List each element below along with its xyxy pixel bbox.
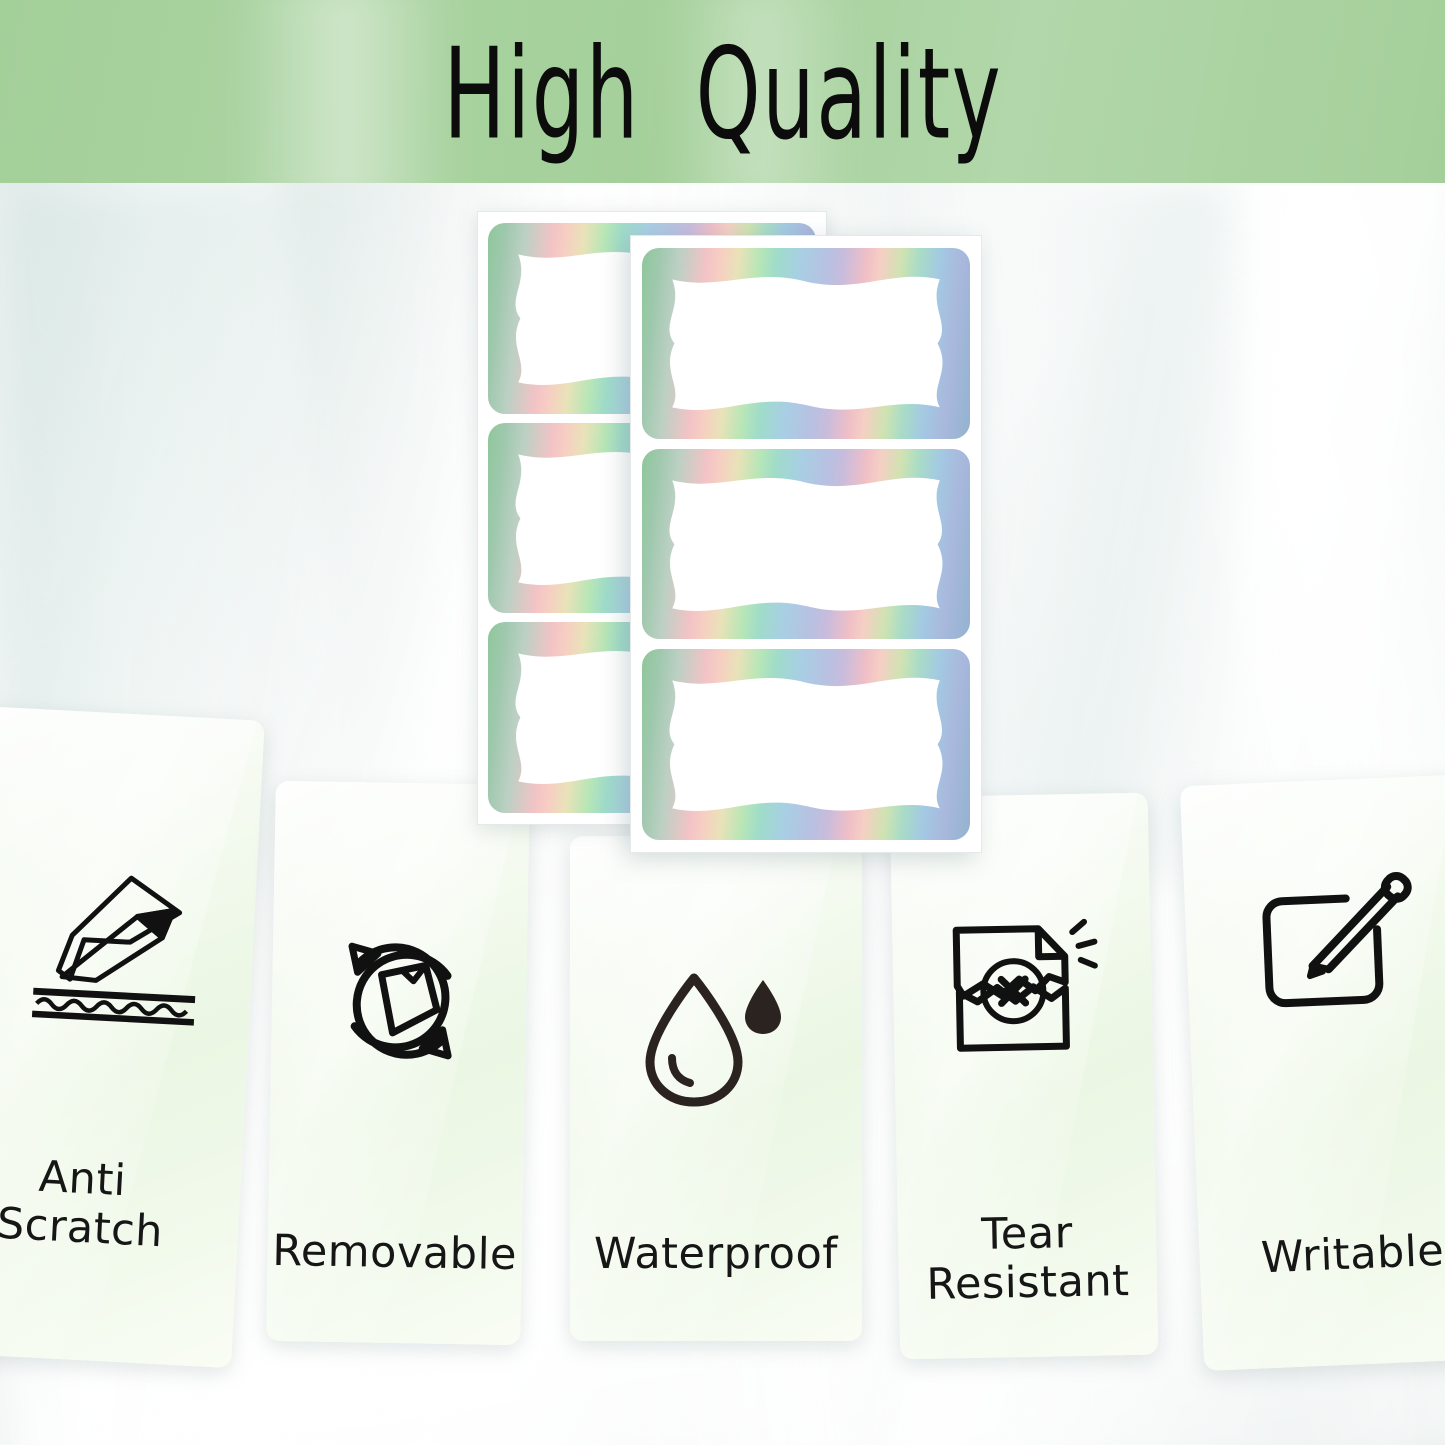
feature-card-label: Tear Resistant	[898, 1207, 1158, 1309]
label-face	[642, 449, 970, 640]
feature-card-writable: Writable	[1180, 774, 1445, 1371]
label-sticker	[642, 649, 970, 840]
feature-card-label: Anti Scratch	[0, 1148, 257, 1262]
label-face	[642, 649, 970, 840]
header-sheen	[230, 0, 460, 183]
feature-card-anti-scratch: Anti Scratch	[0, 706, 265, 1368]
feature-card-waterproof: Waterproof	[570, 836, 862, 1341]
torn-paper-x-icon	[892, 913, 1153, 1068]
page-title: High Quality	[443, 32, 1002, 157]
feature-card-tear-resistant: Tear Resistant	[890, 793, 1159, 1360]
feature-card-removable: Removable	[266, 781, 530, 1345]
feature-card-label: Writable	[1192, 1224, 1445, 1285]
header-banner: High Quality	[0, 0, 1445, 183]
label-sticker	[642, 449, 970, 640]
front-label-sheet	[630, 235, 982, 853]
product-infographic: High Quality	[0, 0, 1445, 1445]
recycle-tag-icon	[271, 921, 528, 1081]
water-droplet-icon	[570, 966, 862, 1110]
card-gloss	[0, 706, 265, 1368]
feature-card-label: Waterproof	[570, 1230, 862, 1279]
label-face	[642, 248, 970, 439]
blade-over-surface-icon	[0, 856, 257, 1029]
pencil-square-icon	[1183, 859, 1445, 1027]
background-shade	[980, 180, 1240, 880]
feature-card-label: Removable	[267, 1227, 522, 1280]
label-sticker	[642, 248, 970, 439]
